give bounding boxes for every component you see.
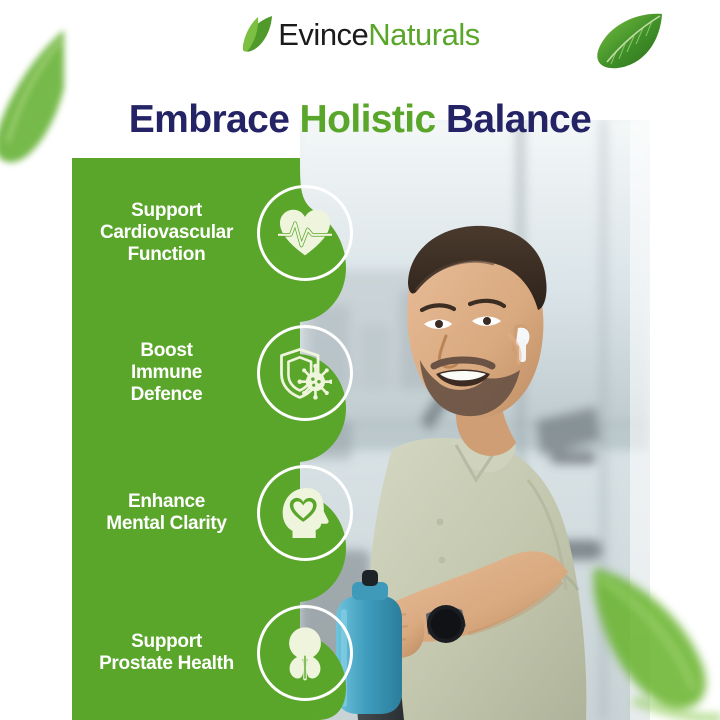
benefit-item: Enhance Mental Clarity	[72, 460, 362, 566]
benefit-label-line: Prostate Health	[76, 653, 257, 675]
benefit-label-line: Boost	[76, 340, 257, 362]
benefit-label: Support Prostate Health	[72, 631, 257, 675]
leaf-icon	[240, 14, 274, 54]
benefit-label: Boost Immune Defence	[72, 340, 257, 406]
benefit-item: Boost Immune Defence	[72, 320, 362, 426]
poster-canvas: EvinceNaturals Embrace Holistic Balance …	[0, 0, 720, 720]
headline-word-3: Balance	[446, 98, 591, 141]
benefit-label-line: Function	[76, 244, 257, 266]
brand-name-secondary: Naturals	[368, 17, 479, 52]
headline-word-2: Holistic	[300, 98, 436, 141]
page-title: Embrace Holistic Balance	[0, 100, 720, 141]
benefit-label: Enhance Mental Clarity	[72, 491, 257, 535]
brand-logo: EvinceNaturals	[0, 14, 720, 54]
brand-name-primary: Evince	[278, 17, 368, 52]
heart-pulse-icon	[257, 185, 353, 281]
benefit-item: Support Prostate Health	[72, 600, 362, 706]
headline-word-1: Embrace	[129, 98, 290, 141]
benefit-label-line: Enhance	[76, 491, 257, 513]
prostate-icon	[257, 605, 353, 701]
benefit-label-line: Support	[76, 631, 257, 653]
head-heart-icon	[257, 465, 353, 561]
benefit-label-line: Support	[76, 200, 257, 222]
benefit-label-line: Mental Clarity	[76, 513, 257, 535]
benefit-label: Support Cardiovascular Function	[72, 200, 257, 266]
benefit-item: Support Cardiovascular Function	[72, 180, 362, 286]
benefit-label-line: Cardiovascular	[76, 222, 257, 244]
benefits-panel: Support Cardiovascular Function Boost Im…	[72, 158, 362, 720]
benefit-label-line: Defence	[76, 384, 257, 406]
shield-virus-icon	[257, 325, 353, 421]
benefit-label-line: Immune	[76, 362, 257, 384]
